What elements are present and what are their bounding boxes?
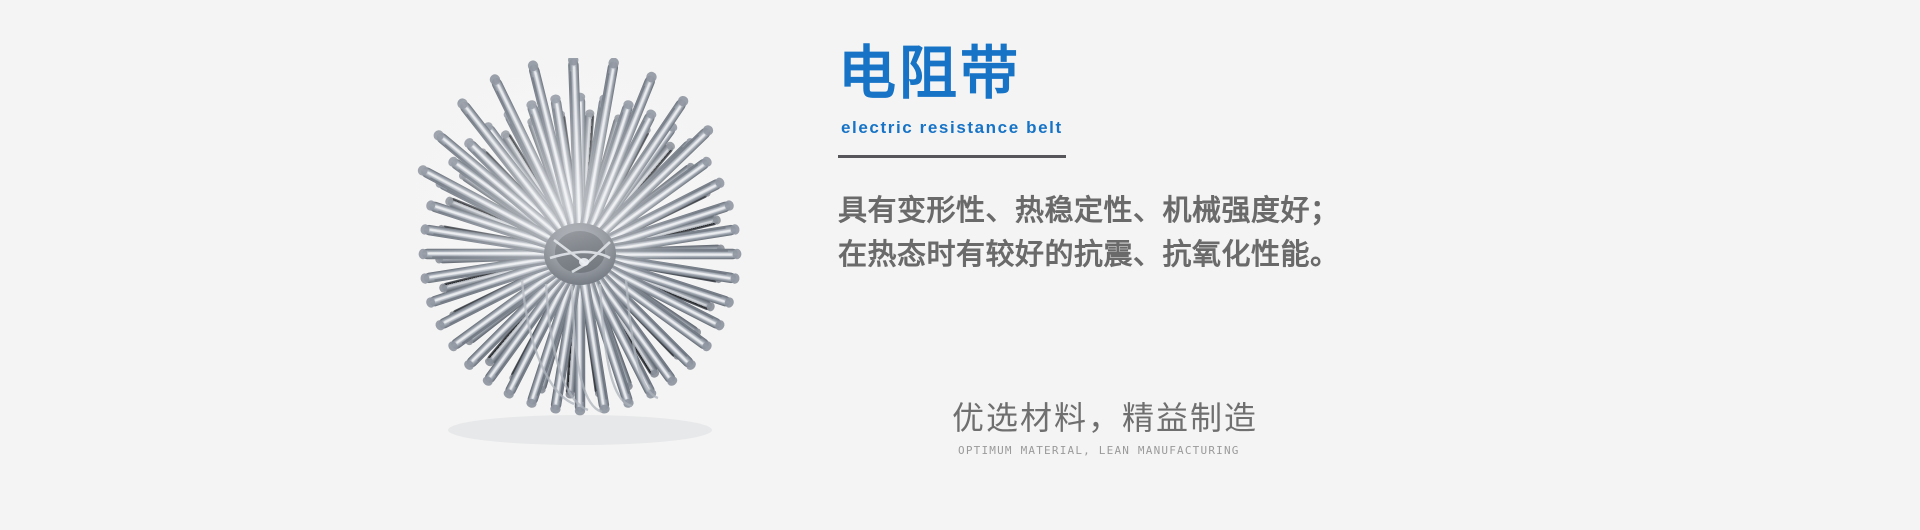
slogan-cn: 优选材料，精益制造 xyxy=(952,398,1472,438)
page-title: 电阻带 xyxy=(838,44,1598,102)
slogan-block: 优选材料，精益制造 OPTIMUM MATERIAL, LEAN MANUFAC… xyxy=(952,398,1472,458)
feature-description: 具有变形性、热稳定性、机械强度好； 在热态时有较好的抗震、抗氧化性能。 xyxy=(838,188,1598,276)
coiled-resistance-belt-photo xyxy=(352,58,802,448)
feature-line-2: 在热态时有较好的抗震、抗氧化性能。 xyxy=(838,232,1598,276)
page-subtitle: electric resistance belt xyxy=(841,118,1598,138)
feature-line-1: 具有变形性、热稳定性、机械强度好； xyxy=(838,188,1598,232)
product-banner: 电阻带 electric resistance belt 具有变形性、热稳定性、… xyxy=(0,0,1920,530)
product-image xyxy=(352,58,802,448)
banner-text-column: 电阻带 electric resistance belt 具有变形性、热稳定性、… xyxy=(838,44,1598,276)
slogan-en: OPTIMUM MATERIAL, LEAN MANUFACTURING xyxy=(958,444,1472,458)
title-divider xyxy=(838,155,1066,158)
